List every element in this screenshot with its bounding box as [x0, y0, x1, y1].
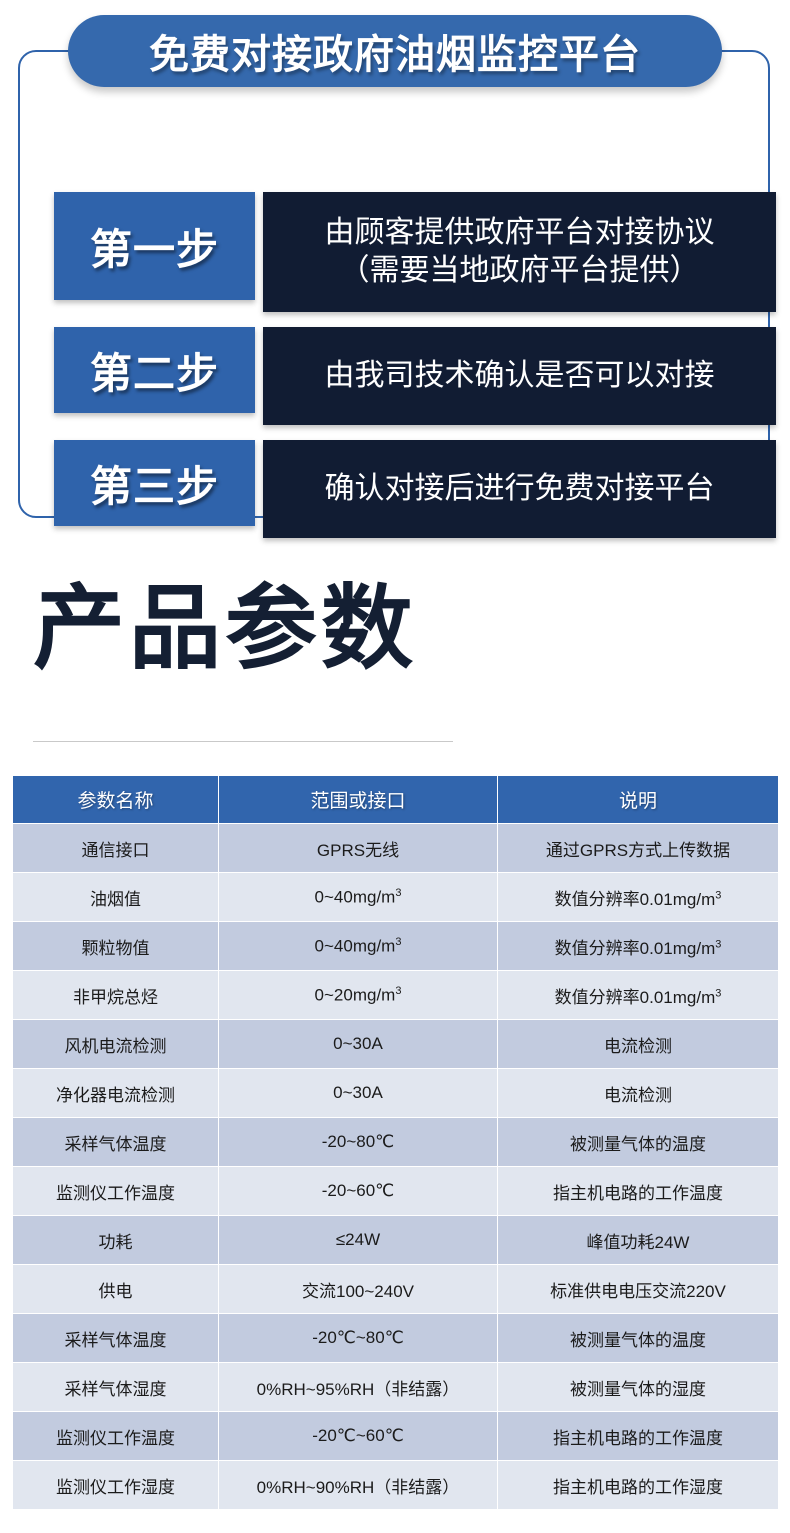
- cell-description: 标准供电电压交流220V: [498, 1265, 779, 1314]
- column-header-range: 范围或接口: [219, 776, 498, 824]
- cell-range: -20℃~80℃: [219, 1314, 498, 1363]
- cell-description: 被测量气体的湿度: [498, 1363, 779, 1412]
- cell-range: GPRS无线: [219, 824, 498, 873]
- step-description-2: 由我司技术确认是否可以对接: [263, 327, 776, 425]
- panel-title-text: 免费对接政府油烟监控平台: [149, 22, 641, 80]
- cell-range: ≤24W: [219, 1216, 498, 1265]
- cell-parameter-name: 采样气体湿度: [13, 1363, 219, 1412]
- cell-range: -20~80℃: [219, 1118, 498, 1167]
- step-description-1: 由顾客提供政府平台对接协议 （需要当地政府平台提供）: [263, 192, 776, 312]
- cell-parameter-name: 非甲烷总烃: [13, 971, 219, 1020]
- cell-parameter-name: 监测仪工作湿度: [13, 1461, 219, 1510]
- table-row: 通信接口GPRS无线通过GPRS方式上传数据: [13, 824, 779, 873]
- cell-parameter-name: 功耗: [13, 1216, 219, 1265]
- step-description-line: 由顾客提供政府平台对接协议: [325, 214, 715, 252]
- step-description-line: 确认对接后进行免费对接平台: [325, 470, 715, 508]
- cell-range: 0~40mg/m3: [219, 922, 498, 971]
- table-row: 净化器电流检测0~30A电流检测: [13, 1069, 779, 1118]
- table-header-row: 参数名称 范围或接口 说明: [13, 776, 779, 824]
- cell-range: 0~30A: [219, 1069, 498, 1118]
- cell-parameter-name: 通信接口: [13, 824, 219, 873]
- step-row: 第一步 由顾客提供政府平台对接协议 （需要当地政府平台提供）: [54, 192, 776, 312]
- cell-parameter-name: 颗粒物值: [13, 922, 219, 971]
- cell-range: -20~60℃: [219, 1167, 498, 1216]
- table-row: 供电交流100~240V标准供电电压交流220V: [13, 1265, 779, 1314]
- cell-description: 指主机电路的工作湿度: [498, 1461, 779, 1510]
- table-row: 采样气体温度-20℃~80℃被测量气体的温度: [13, 1314, 779, 1363]
- table-row: 采样气体温度-20~80℃被测量气体的温度: [13, 1118, 779, 1167]
- cell-description: 数值分辨率0.01mg/m3: [498, 922, 779, 971]
- cell-description: 电流检测: [498, 1020, 779, 1069]
- cell-parameter-name: 净化器电流检测: [13, 1069, 219, 1118]
- step-row: 第三步 确认对接后进行免费对接平台: [54, 440, 776, 538]
- table-row: 监测仪工作温度-20℃~60℃指主机电路的工作温度: [13, 1412, 779, 1461]
- cell-range: -20℃~60℃: [219, 1412, 498, 1461]
- heading-divider: [33, 741, 453, 742]
- table-body: 通信接口GPRS无线通过GPRS方式上传数据油烟值0~40mg/m3数值分辨率0…: [13, 824, 779, 1510]
- section-heading: 产品参数: [33, 583, 417, 675]
- cell-range: 0~40mg/m3: [219, 873, 498, 922]
- cell-range: 0%RH~90%RH（非结露）: [219, 1461, 498, 1510]
- cell-description: 指主机电路的工作温度: [498, 1167, 779, 1216]
- steps-panel: 第一步 由顾客提供政府平台对接协议 （需要当地政府平台提供） 第二步 由我司技术…: [18, 50, 770, 518]
- cell-description: 通过GPRS方式上传数据: [498, 824, 779, 873]
- cell-description: 被测量气体的温度: [498, 1314, 779, 1363]
- column-header-name: 参数名称: [13, 776, 219, 824]
- table-row: 非甲烷总烃0~20mg/m3数值分辨率0.01mg/m3: [13, 971, 779, 1020]
- step-badge-label: 第三步: [90, 453, 219, 514]
- step-row: 第二步 由我司技术确认是否可以对接: [54, 327, 776, 425]
- column-header-desc: 说明: [498, 776, 779, 824]
- cell-description: 指主机电路的工作温度: [498, 1412, 779, 1461]
- cell-description: 峰值功耗24W: [498, 1216, 779, 1265]
- table-row: 颗粒物值0~40mg/m3数值分辨率0.01mg/m3: [13, 922, 779, 971]
- table-row: 监测仪工作湿度0%RH~90%RH（非结露）指主机电路的工作湿度: [13, 1461, 779, 1510]
- table-row: 风机电流检测0~30A电流检测: [13, 1020, 779, 1069]
- panel-title-pill: 免费对接政府油烟监控平台: [68, 15, 722, 87]
- steps-list: 第一步 由顾客提供政府平台对接协议 （需要当地政府平台提供） 第二步 由我司技术…: [54, 192, 776, 553]
- cell-parameter-name: 供电: [13, 1265, 219, 1314]
- step-badge-3: 第三步: [54, 440, 255, 526]
- cell-description: 数值分辨率0.01mg/m3: [498, 971, 779, 1020]
- cell-description: 数值分辨率0.01mg/m3: [498, 873, 779, 922]
- step-description-line: （需要当地政府平台提供）: [340, 252, 700, 290]
- cell-parameter-name: 风机电流检测: [13, 1020, 219, 1069]
- cell-parameter-name: 监测仪工作温度: [13, 1412, 219, 1461]
- cell-range: 交流100~240V: [219, 1265, 498, 1314]
- cell-parameter-name: 监测仪工作温度: [13, 1167, 219, 1216]
- cell-parameter-name: 采样气体温度: [13, 1314, 219, 1363]
- cell-description: 电流检测: [498, 1069, 779, 1118]
- table-row: 监测仪工作温度-20~60℃指主机电路的工作温度: [13, 1167, 779, 1216]
- cell-parameter-name: 采样气体温度: [13, 1118, 219, 1167]
- step-badge-label: 第一步: [90, 216, 219, 277]
- product-spec-table: 参数名称 范围或接口 说明 通信接口GPRS无线通过GPRS方式上传数据油烟值0…: [12, 775, 779, 1510]
- cell-description: 被测量气体的温度: [498, 1118, 779, 1167]
- table-row: 功耗≤24W峰值功耗24W: [13, 1216, 779, 1265]
- step-badge-label: 第二步: [90, 340, 219, 401]
- table-row: 油烟值0~40mg/m3数值分辨率0.01mg/m3: [13, 873, 779, 922]
- step-description-line: 由我司技术确认是否可以对接: [325, 357, 715, 395]
- step-description-3: 确认对接后进行免费对接平台: [263, 440, 776, 538]
- step-badge-1: 第一步: [54, 192, 255, 300]
- cell-range: 0%RH~95%RH（非结露）: [219, 1363, 498, 1412]
- cell-range: 0~20mg/m3: [219, 971, 498, 1020]
- cell-parameter-name: 油烟值: [13, 873, 219, 922]
- step-badge-2: 第二步: [54, 327, 255, 413]
- table-row: 采样气体湿度0%RH~95%RH（非结露）被测量气体的湿度: [13, 1363, 779, 1412]
- cell-range: 0~30A: [219, 1020, 498, 1069]
